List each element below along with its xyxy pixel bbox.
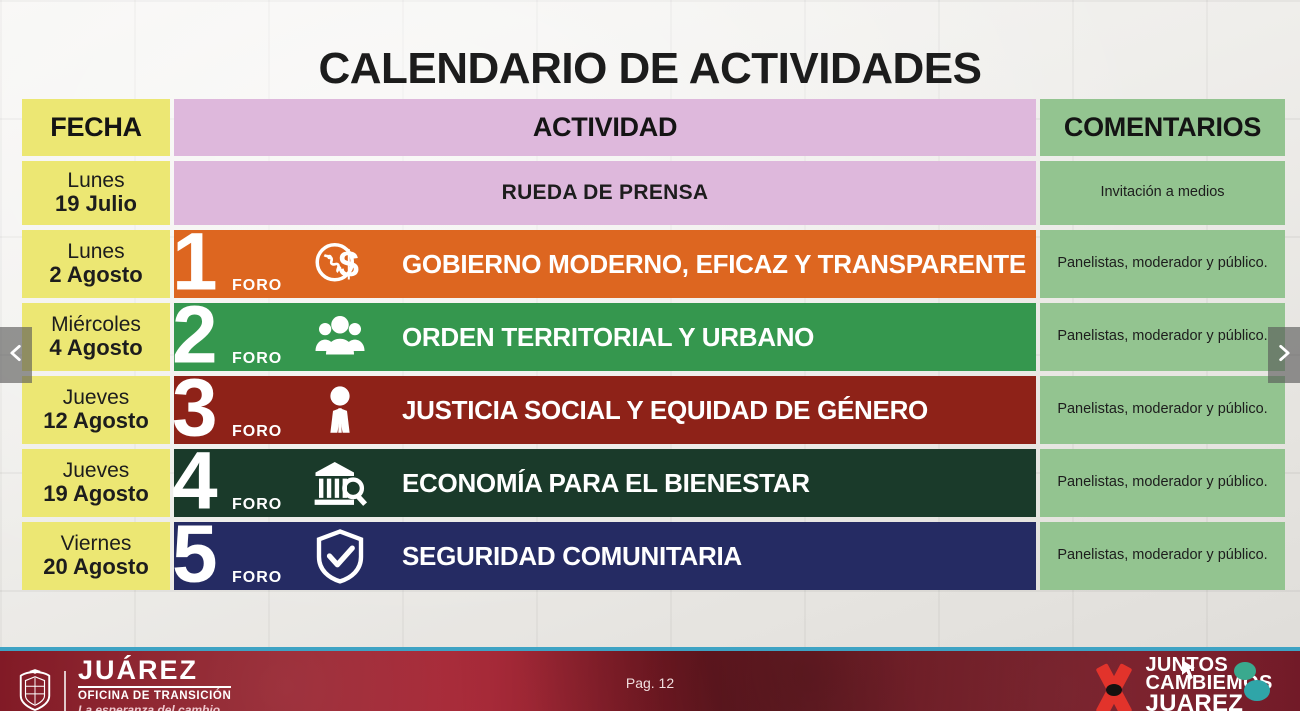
foro-label: FORO (232, 569, 282, 587)
activity-label: JUSTICIA SOCIAL Y EQUIDAD DE GÉNERO (402, 395, 928, 426)
foro-label: FORO (232, 496, 282, 514)
activity-cell: 4 FORO ECONOMÍA PARA EL BIENESTAR (174, 449, 1036, 517)
slide-footer: JUÁREZ OFICINA DE TRANSICIÓN La esperanz… (0, 647, 1300, 711)
table-row-forum-1: Lunes 2 Agosto 1 FORO $ GOBIERNO MODERNO… (22, 230, 1285, 298)
forum-bar: 3 FORO JUSTICIA SOCIAL Y EQUIDAD DE GÉNE… (174, 376, 1036, 444)
comment-text: Panelistas, moderador y público. (1040, 230, 1285, 298)
table-row-forum-5: Viernes 20 Agosto 5 FORO SEGURIDAD COMUN… (22, 522, 1285, 590)
comment-text: Panelistas, moderador y público. (1040, 449, 1285, 517)
date-number: 12 Agosto (43, 409, 149, 434)
table-header-row: FECHA ACTIVIDAD COMENTARIOS (22, 99, 1285, 156)
date-day: Lunes (67, 240, 124, 264)
date-day: Lunes (67, 169, 124, 193)
date-cell: Jueves 12 Agosto (22, 376, 170, 444)
activity-cell: 5 FORO SEGURIDAD COMUNITARIA (174, 522, 1036, 590)
forum-number: 4 (172, 450, 215, 514)
juntos-cambiemos-juarez-logo: JUNTOS CAMBIEMOS JUAREZ FOROS DE PARTICI… (1085, 656, 1290, 711)
activity-label: ECONOMÍA PARA EL BIENESTAR (402, 468, 810, 499)
date-number: 20 Agosto (43, 555, 149, 580)
foro-label: FORO (232, 350, 282, 368)
forum-number: 5 (172, 523, 215, 587)
date-cell: Miércoles 4 Agosto (22, 303, 170, 371)
table-row-press: Lunes 19 Julio RUEDA DE PRENSA Invitació… (22, 161, 1285, 225)
svg-text:$: $ (339, 243, 359, 284)
comment-cell: Panelistas, moderador y público. (1040, 303, 1285, 371)
table-row-forum-2: Miércoles 4 Agosto 2 FORO ORDEN TERRITOR… (22, 303, 1285, 371)
activity-label: ORDEN TERRITORIAL Y URBANO (402, 322, 814, 353)
date-day: Viernes (61, 532, 132, 556)
date-number: 19 Agosto (43, 482, 149, 507)
header-cell-comentarios: COMENTARIOS (1040, 99, 1285, 156)
activity-cell: 2 FORO ORDEN TERRITORIAL Y URBANO (174, 303, 1036, 371)
activity-cell: 1 FORO $ GOBIERNO MODERNO, EFICAZ Y TRAN… (174, 230, 1036, 298)
header-cell-actividad: ACTIVIDAD (174, 99, 1036, 156)
comment-cell: Panelistas, moderador y público. (1040, 522, 1285, 590)
bank-magnifier-icon (309, 455, 371, 511)
globe-dollar-icon: $ (309, 236, 371, 292)
x-mark-icon (1085, 665, 1143, 711)
activity-cell: RUEDA DE PRENSA (174, 161, 1036, 225)
speech-bubble-icon (1234, 662, 1256, 680)
forum-bar: 5 FORO SEGURIDAD COMUNITARIA (174, 522, 1036, 590)
people-group-icon (309, 309, 371, 365)
date-number: 4 Agosto (49, 336, 142, 361)
comment-cell: Panelistas, moderador y público. (1040, 376, 1285, 444)
date-cell: Viernes 20 Agosto (22, 522, 170, 590)
comment-text: Panelistas, moderador y público. (1040, 303, 1285, 371)
speech-bubble-icon-2 (1244, 680, 1270, 701)
forum-bar: 2 FORO ORDEN TERRITORIAL Y URBANO (174, 303, 1036, 371)
date-number: 2 Agosto (49, 263, 142, 288)
table-row-forum-3: Jueves 12 Agosto 3 FORO JUSTICIA SOCIAL … (22, 376, 1285, 444)
shield-check-icon (309, 528, 371, 584)
slide-canvas: CALENDARIO DE ACTIVIDADES FECHA ACTIVIDA… (0, 0, 1300, 711)
date-number: 19 Julio (55, 192, 137, 217)
comment-cell: Panelistas, moderador y público. (1040, 230, 1285, 298)
foro-label: FORO (232, 423, 282, 441)
comment-text: Panelistas, moderador y público. (1040, 376, 1285, 444)
person-suit-icon (309, 382, 371, 438)
date-day: Miércoles (51, 313, 141, 337)
activities-table: FECHA ACTIVIDAD COMENTARIOS Lunes 19 Jul… (22, 99, 1285, 595)
date-cell: Lunes 2 Agosto (22, 230, 170, 298)
comment-text: Panelistas, moderador y público. (1040, 522, 1285, 590)
date-cell: Jueves 19 Agosto (22, 449, 170, 517)
comment-cell: Panelistas, moderador y público. (1040, 449, 1285, 517)
activity-label: SEGURIDAD COMUNITARIA (402, 541, 742, 572)
forum-bar: 4 FORO ECONOMÍA PARA EL BIENESTAR (174, 449, 1036, 517)
forum-number: 1 (172, 231, 215, 295)
date-day: Jueves (63, 386, 130, 410)
chevron-right-icon (1274, 340, 1294, 371)
forum-number: 3 (172, 377, 215, 441)
date-cell: Lunes 19 Julio (22, 161, 170, 225)
next-slide-button[interactable] (1268, 327, 1300, 383)
forum-bar: 1 FORO $ GOBIERNO MODERNO, EFICAZ Y TRAN… (174, 230, 1036, 298)
foro-label: FORO (232, 277, 282, 295)
prev-slide-button[interactable] (0, 327, 32, 383)
activity-cell: 3 FORO JUSTICIA SOCIAL Y EQUIDAD DE GÉNE… (174, 376, 1036, 444)
date-day: Jueves (63, 459, 130, 483)
activity-label: GOBIERNO MODERNO, EFICAZ Y TRANSPARENTE (402, 249, 1026, 280)
forum-number: 2 (172, 304, 215, 368)
comment-text: Invitación a medios (1040, 161, 1285, 225)
activity-label: RUEDA DE PRENSA (174, 161, 1036, 225)
header-cell-fecha: FECHA (22, 99, 170, 156)
chevron-left-icon (6, 340, 26, 371)
comment-cell: Invitación a medios (1040, 161, 1285, 225)
page-title: CALENDARIO DE ACTIVIDADES (0, 44, 1300, 94)
table-row-forum-4: Jueves 19 Agosto 4 FORO ECONOMÍA PARA EL… (22, 449, 1285, 517)
